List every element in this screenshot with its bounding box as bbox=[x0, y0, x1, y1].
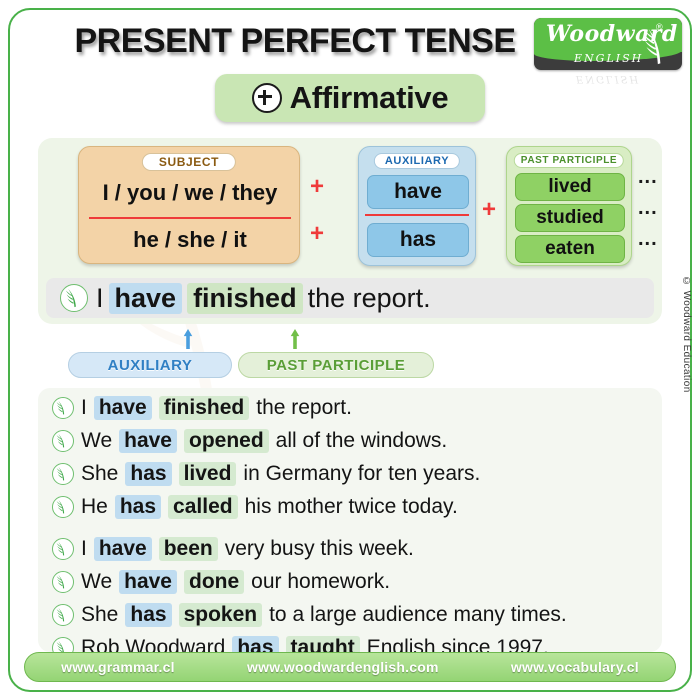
example-part-participle-2: finished bbox=[187, 283, 303, 314]
sentence-row: Ihavefinishedthe report. bbox=[52, 396, 352, 420]
ellipsis-2: ... bbox=[638, 228, 658, 251]
fern-leaf-icon bbox=[52, 538, 74, 560]
logo-subtitle: ENGLISH bbox=[574, 52, 643, 65]
fern-leaf-icon bbox=[52, 496, 74, 518]
sentence-row: Wehaveopenedall of the windows. bbox=[52, 429, 447, 453]
logo-fern-icon bbox=[636, 20, 678, 68]
sentence-part-plain: He bbox=[81, 495, 108, 519]
footer-link-vocabulary[interactable]: www.vocabulary.cl bbox=[511, 659, 639, 675]
sentence-part-auxiliary: have bbox=[119, 570, 177, 594]
example-sentences-panel: Ihavefinishedthe report.Wehaveopenedall … bbox=[38, 388, 662, 652]
affirmative-label: Affirmative bbox=[290, 80, 449, 116]
footer-link-woodwardenglish[interactable]: www.woodwardenglish.com bbox=[247, 659, 439, 675]
auxiliary-divider bbox=[365, 214, 469, 216]
fern-leaf-icon bbox=[52, 604, 74, 626]
auxiliary-box: AUXILIARY have has bbox=[358, 146, 476, 266]
copyright-vertical: © Woodward Education bbox=[681, 276, 692, 393]
sentence-part-participle: done bbox=[184, 570, 244, 594]
formula-panel: SUBJECT I / you / we / they he / she / i… bbox=[38, 138, 662, 324]
sentence-part-plain: the report. bbox=[256, 396, 352, 420]
auxiliary-chip-have: have bbox=[367, 175, 469, 209]
subject-singular-pronouns: he / she / it bbox=[79, 227, 301, 253]
logo-reflection: ENGLISH bbox=[534, 70, 682, 84]
sentence-part-auxiliary: has bbox=[125, 603, 171, 627]
plus-circle-icon bbox=[252, 83, 282, 113]
plus-sign-subject-aux-plural: + bbox=[310, 173, 324, 201]
sentence-part-plain: in Germany for ten years. bbox=[243, 462, 480, 486]
sentence-row: Shehasspokento a large audience many tim… bbox=[52, 603, 567, 627]
sentence-part-plain: I bbox=[81, 396, 87, 420]
sentence-part-plain: his mother twice today. bbox=[245, 495, 458, 519]
infographic-poster: PRESENT PERFECT TENSE Woodward ® ENGLISH… bbox=[0, 0, 700, 700]
sentence-row: Hehascalledhis mother twice today. bbox=[52, 495, 458, 519]
participle-chip-studied: studied bbox=[515, 204, 625, 232]
participle-chip-lived: lived bbox=[515, 173, 625, 201]
legend-auxiliary: AUXILIARY bbox=[68, 352, 232, 378]
sentence-part-participle: spoken bbox=[179, 603, 263, 627]
sentence-part-participle: been bbox=[159, 537, 218, 561]
participle-chip-eaten: eaten bbox=[515, 235, 625, 263]
arrow-past-participle-icon bbox=[290, 325, 300, 353]
sentence-part-plain: I bbox=[81, 537, 87, 561]
sentence-row: Wehavedoneour homework. bbox=[52, 570, 390, 594]
sentence-part-participle: opened bbox=[184, 429, 269, 453]
fern-leaf-icon bbox=[52, 397, 74, 419]
sentence-part-plain: We bbox=[81, 570, 112, 594]
sentence-part-plain: She bbox=[81, 462, 118, 486]
fern-leaf-icon bbox=[52, 430, 74, 452]
sentence-part-plain: very busy this week. bbox=[225, 537, 414, 561]
fern-leaf-icon bbox=[60, 284, 88, 312]
sentence-part-plain: our homework. bbox=[251, 570, 390, 594]
sentence-part-auxiliary: have bbox=[94, 537, 152, 561]
footer-link-grammar[interactable]: www.grammar.cl bbox=[61, 659, 175, 675]
example-part-plain-0: I bbox=[96, 283, 104, 314]
sentence-part-participle: lived bbox=[179, 462, 237, 486]
subject-divider bbox=[89, 217, 291, 219]
fern-leaf-icon bbox=[52, 571, 74, 593]
example-sentence: Ihavefinishedthe report. bbox=[96, 283, 431, 314]
past-participle-caption: PAST PARTICIPLE bbox=[514, 153, 624, 168]
sentence-part-participle: called bbox=[168, 495, 238, 519]
sentence-part-auxiliary: have bbox=[94, 396, 152, 420]
plus-sign-subject-aux-singular: + bbox=[310, 220, 324, 248]
affirmative-badge: Affirmative bbox=[215, 74, 485, 122]
auxiliary-caption: AUXILIARY bbox=[374, 153, 460, 169]
sentence-part-auxiliary: has bbox=[125, 462, 171, 486]
ellipsis-1: ... bbox=[638, 197, 658, 220]
sentence-part-plain: to a large audience many times. bbox=[269, 603, 567, 627]
sentence-part-plain: We bbox=[81, 429, 112, 453]
sentence-row: Shehaslivedin Germany for ten years. bbox=[52, 462, 480, 486]
subject-box: SUBJECT I / you / we / they he / she / i… bbox=[78, 146, 300, 264]
example-part-plain-3: the report. bbox=[308, 283, 431, 314]
sentence-part-plain: all of the windows. bbox=[276, 429, 448, 453]
past-participle-box: PAST PARTICIPLE lived studied eaten bbox=[506, 146, 632, 266]
sentence-part-plain: She bbox=[81, 603, 118, 627]
sentence-part-auxiliary: have bbox=[119, 429, 177, 453]
subject-plural-pronouns: I / you / we / they bbox=[79, 180, 301, 206]
auxiliary-chip-has: has bbox=[367, 223, 469, 257]
arrow-auxiliary-icon bbox=[183, 325, 193, 353]
plus-sign-aux-participle: + bbox=[482, 196, 496, 224]
sentence-part-auxiliary: has bbox=[115, 495, 161, 519]
legend-past-participle: PAST PARTICIPLE bbox=[238, 352, 434, 378]
example-sentence-band: Ihavefinishedthe report. bbox=[46, 278, 654, 318]
example-part-auxiliary-1: have bbox=[109, 283, 183, 314]
woodward-english-logo[interactable]: Woodward ® ENGLISH bbox=[534, 18, 682, 70]
subject-caption: SUBJECT bbox=[142, 153, 236, 171]
footer-bar: www.grammar.cl www.woodwardenglish.com w… bbox=[24, 652, 676, 682]
fern-leaf-icon bbox=[52, 463, 74, 485]
ellipsis-0: ... bbox=[638, 166, 658, 189]
sentence-part-participle: finished bbox=[159, 396, 250, 420]
sentence-row: Ihavebeenvery busy this week. bbox=[52, 537, 414, 561]
